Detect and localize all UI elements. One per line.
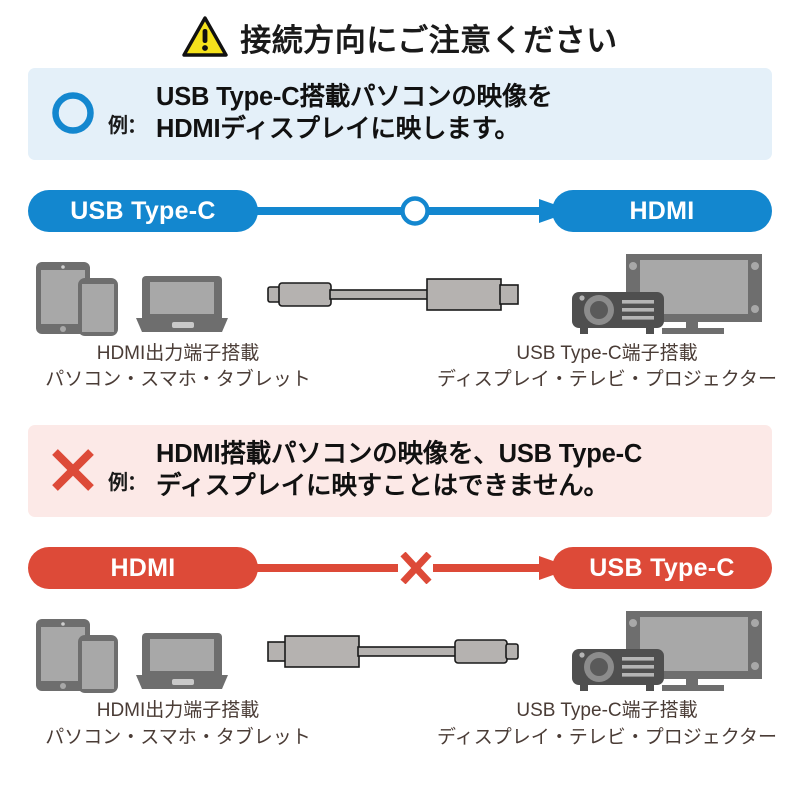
pill-source-ok: USB Type-C	[28, 190, 258, 232]
callout-ng: 例： HDMI搭載パソコンの映像を、USB Type-C ディスプレイに映すこと…	[28, 425, 772, 517]
callout-ng-line-2: ディスプレイに映すことはできません。	[156, 471, 642, 501]
caption-row-ng: HDMI出力端子搭載 パソコン・スマホ・タブレット USB Type-C端子搭載…	[28, 699, 772, 748]
caption-row-ok: HDMI出力端子搭載 パソコン・スマホ・タブレット USB Type-C端子搭載…	[28, 342, 772, 391]
callout-ok-text: USB Type-C搭載パソコンの映像を HDMIディスプレイに映します。	[156, 82, 552, 144]
callout-ng-text: HDMI搭載パソコンの映像を、USB Type-C ディスプレイに映すことはでき…	[156, 439, 642, 501]
caption-right-ok-line-2: ディスプレイ・テレビ・プロジェクター	[437, 368, 777, 391]
caption-left-ok-line-1: HDMI出力端子搭載	[97, 342, 260, 365]
cross-ng-icon	[403, 554, 429, 582]
page-title: 接続方向にご注意ください	[240, 15, 617, 60]
cross-ng-icon	[48, 445, 98, 495]
caption-left-ng: HDMI出力端子搭載 パソコン・スマホ・タブレット	[28, 699, 328, 748]
warning-triangle-icon	[182, 16, 228, 58]
hdmi-to-usbc-cable-icon	[267, 632, 529, 670]
laptop-icon	[134, 631, 230, 693]
device-group-right-ng	[566, 609, 766, 693]
caption-right-ok: USB Type-C端子搭載 ディスプレイ・テレビ・プロジェクター	[442, 342, 772, 391]
cable-ok-wrap	[267, 275, 529, 336]
example-label-ng: 例：	[108, 466, 146, 503]
circle-ok-icon	[403, 199, 428, 224]
usbc-to-hdmi-cable-icon	[267, 275, 529, 313]
section-ok: 例： USB Type-C搭載パソコンの映像を HDMIディスプレイに映します。…	[0, 68, 800, 391]
pill-source-ng: HDMI	[28, 547, 258, 589]
laptop-icon	[134, 274, 230, 336]
tablet-icon	[34, 617, 120, 693]
projector-icon	[572, 649, 664, 691]
smartphone-icon	[78, 635, 118, 693]
flow-ng: HDMI USB Type-C	[28, 543, 772, 593]
caption-right-ng: USB Type-C端子搭載 ディスプレイ・テレビ・プロジェクター	[442, 699, 772, 748]
caption-right-ng-line-2: ディスプレイ・テレビ・プロジェクター	[437, 726, 777, 749]
flow-arrow-ok	[243, 195, 583, 227]
example-label-ok: 例：	[108, 109, 146, 146]
section-ng: 例： HDMI搭載パソコンの映像を、USB Type-C ディスプレイに映すこと…	[0, 425, 800, 748]
pill-target-ok: HDMI	[552, 190, 772, 232]
circle-ok-icon	[48, 88, 98, 138]
callout-ng-line-1: HDMI搭載パソコンの映像を、USB Type-C	[156, 439, 642, 469]
caption-left-ng-line-2: パソコン・スマホ・タブレット	[45, 726, 310, 749]
device-row-ok	[28, 248, 772, 336]
device-row-ng	[28, 605, 772, 693]
cable-ng-wrap	[267, 632, 529, 693]
caption-left-ng-line-1: HDMI出力端子搭載	[97, 699, 260, 722]
projector-icon	[572, 292, 664, 334]
callout-ok-line-1: USB Type-C搭載パソコンの映像を	[156, 82, 552, 112]
caption-left-ok-line-2: パソコン・スマホ・タブレット	[45, 368, 310, 391]
smartphone-icon	[78, 278, 118, 336]
caption-right-ok-line-1: USB Type-C端子搭載	[516, 342, 697, 365]
flow-ok: USB Type-C HDMI	[28, 186, 772, 236]
tablet-icon	[34, 260, 120, 336]
caption-right-ng-line-1: USB Type-C端子搭載	[516, 699, 697, 722]
page-header: 接続方向にご注意ください	[0, 0, 800, 68]
device-group-left-ok	[34, 260, 230, 336]
device-group-right-ok	[566, 252, 766, 336]
flow-arrow-ng	[243, 552, 583, 584]
callout-ok: 例： USB Type-C搭載パソコンの映像を HDMIディスプレイに映します。	[28, 68, 772, 160]
pill-target-ng: USB Type-C	[552, 547, 772, 589]
callout-ok-line-2: HDMIディスプレイに映します。	[156, 114, 552, 144]
device-group-left-ng	[34, 617, 230, 693]
caption-left-ok: HDMI出力端子搭載 パソコン・スマホ・タブレット	[28, 342, 328, 391]
